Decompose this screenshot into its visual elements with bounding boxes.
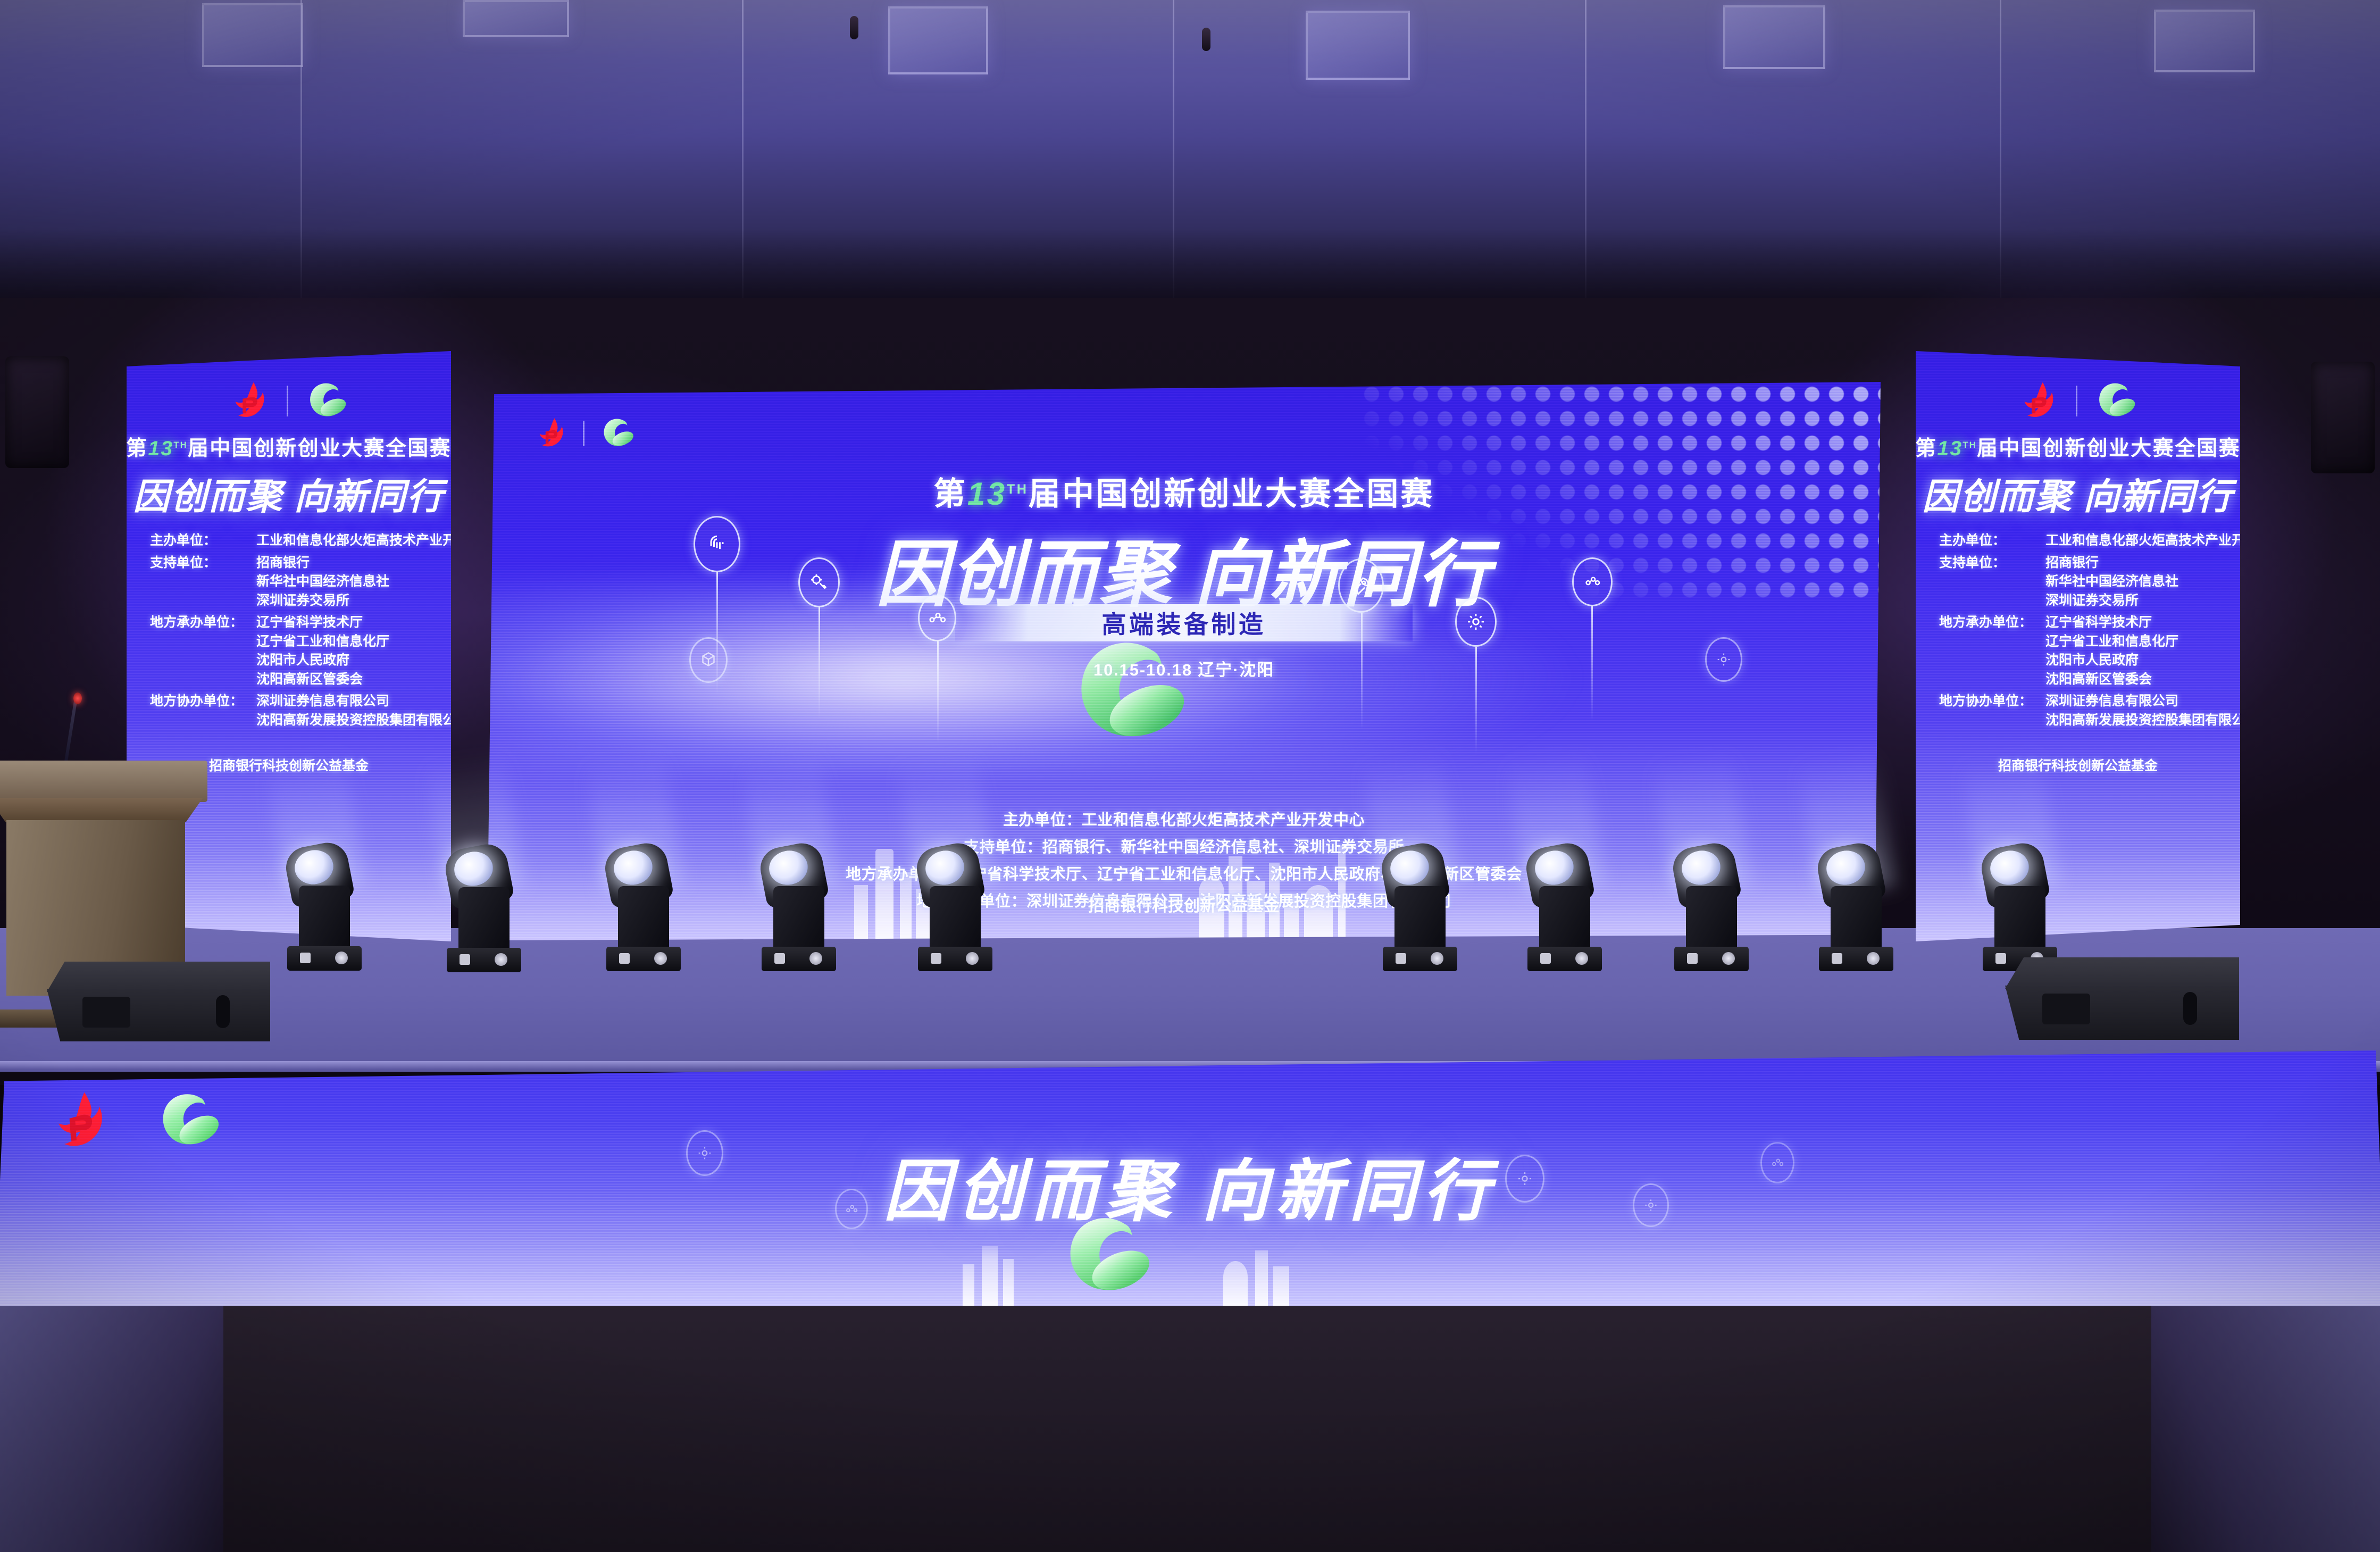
org-value: 辽宁省科学技术厅 <box>256 613 389 632</box>
org-key: 主办单位： <box>1939 531 2045 550</box>
front-led-strip: 因创而聚 向新同行 <box>0 1050 2380 1306</box>
moving-head-light <box>1674 853 1749 971</box>
molecule-icon <box>1760 1142 1794 1183</box>
torch-logo <box>533 416 570 450</box>
org-value: 工业和信息化部火炬高技术产业开发中心 <box>256 531 451 550</box>
org-value: 招商银行 <box>256 554 389 573</box>
house-floor <box>0 1287 2380 1552</box>
org-key: 地方协办单位： <box>150 692 256 730</box>
panel-fund-line: 招商银行科技创新公益基金 <box>1998 755 2158 774</box>
edition-suffix: 届中国创新创业大赛全国赛 <box>1977 437 2240 460</box>
torch-logo <box>2016 380 2062 422</box>
stage-monitor-speaker <box>47 962 270 1041</box>
subtitle-band: 高端装备制造 <box>955 604 1413 641</box>
house-carpet-right <box>2151 1284 2380 1552</box>
edition-prefix: 第 <box>933 476 967 512</box>
ceiling-light-panel <box>1723 5 1825 69</box>
right-led-panel: 第13TH届中国创新创业大赛全国赛 因创而聚 向新同行 主办单位： 工业和信息化… <box>1916 351 2240 941</box>
org-value: 沈阳高新发展投资控股集团有限公司 <box>2045 711 2240 730</box>
moving-head-light <box>287 854 362 971</box>
ceiling-light-panel <box>463 0 569 37</box>
org-key: 地方承办单位： <box>1939 613 2045 689</box>
front-strip-slogan: 因创而聚 向新同行 <box>0 1137 2380 1234</box>
big-c-emblem <box>1059 632 1197 754</box>
footer-line: 支持单位：招商银行、新华社中国经济信息社、深圳证券交易所 <box>964 835 1404 857</box>
gear-icon <box>1455 597 1497 647</box>
panel-fund-line: 招商银行科技创新公益基金 <box>209 755 369 774</box>
c-mark-logo <box>2091 380 2140 422</box>
subtitle-text: 高端装备制造 <box>1101 605 1266 640</box>
c-mark-logo <box>302 380 351 422</box>
edition-tm: TH <box>1007 482 1029 497</box>
moving-head-light <box>1983 855 2057 971</box>
org-value: 辽宁省工业和信息化厅 <box>256 632 389 652</box>
edition-tm: TH <box>173 440 188 450</box>
org-value: 深圳证券交易所 <box>256 591 389 611</box>
ceiling <box>0 0 2380 340</box>
moving-head-light <box>1819 854 1893 971</box>
wall-mounted-speaker <box>2311 362 2375 473</box>
ceiling-light-panel <box>202 3 303 67</box>
main-led-screen: 第13TH届中国创新创业大赛全国赛 因创而聚 向新同行 <box>487 382 1881 940</box>
moving-head-light <box>762 851 836 971</box>
edition-prefix: 第 <box>127 437 148 460</box>
org-value: 沈阳高新发展投资控股集团有限公司 <box>256 711 451 730</box>
org-value: 辽宁省科学技术厅 <box>2045 613 2178 632</box>
org-value: 招商银行 <box>2045 554 2178 573</box>
footer-line: 主办单位：工业和信息化部火炬高技术产业开发中心 <box>1003 807 1365 830</box>
ceiling-light-panel <box>2154 10 2255 72</box>
org-value: 深圳证券交易所 <box>2045 591 2178 611</box>
org-value: 沈阳市人民政府 <box>256 651 389 670</box>
org-value: 新华社中国经济信息社 <box>2045 572 2178 591</box>
microphone-head-icon <box>73 692 82 704</box>
molecule-icon <box>918 595 956 641</box>
edition-number: 13 <box>967 476 1007 512</box>
wall-mounted-speaker <box>5 356 69 468</box>
edition-prefix: 第 <box>1916 437 1937 460</box>
org-key: 支持单位： <box>150 554 256 611</box>
fund-line: 招商银行科技创新公益基金 <box>487 892 1881 916</box>
stage-photo-scene: 第13TH届中国创新创业大赛全国赛 因创而聚 向新同行 主办单位： 工业和信息化… <box>0 0 2380 1552</box>
org-value: 辽宁省工业和信息化厅 <box>2045 632 2178 652</box>
org-value: 工业和信息化部火炬高技术产业开发中心 <box>2045 531 2240 550</box>
moving-head-light <box>1383 851 1457 971</box>
moving-head-light <box>918 851 992 971</box>
edition-suffix: 届中国创新创业大赛全国赛 <box>1029 476 1434 512</box>
gear-icon <box>686 1130 723 1176</box>
edition-tm: TH <box>1963 440 1977 450</box>
c-mark-logo <box>597 416 638 451</box>
gear-icon <box>1633 1183 1669 1227</box>
edition-number: 13 <box>1937 437 1963 460</box>
org-value: 新华社中国经济信息社 <box>256 572 389 591</box>
org-value: 深圳证券信息有限公司 <box>2045 692 2240 711</box>
house-carpet-left <box>0 1284 223 1552</box>
ceiling-light-panel <box>1306 11 1410 80</box>
org-value: 沈阳高新区管委会 <box>256 670 389 689</box>
org-value: 沈阳高新区管委会 <box>2045 670 2178 689</box>
fingerprint-icon <box>694 516 740 572</box>
org-value: 沈阳市人民政府 <box>2045 651 2178 670</box>
org-value: 深圳证券信息有限公司 <box>256 692 451 711</box>
stage-monitor-speaker <box>2005 957 2239 1040</box>
city-skyline-decor <box>0 1221 2380 1306</box>
moving-head-light <box>447 856 521 972</box>
gear-wrench-icon <box>798 557 840 607</box>
panel-slogan: 因创而聚 向新同行 <box>1922 467 2233 520</box>
moving-head-light <box>606 852 681 971</box>
molecule-icon <box>835 1189 868 1229</box>
ceiling-sprinkler <box>850 16 858 39</box>
gear-icon <box>1505 1155 1544 1203</box>
edition-number: 13 <box>148 437 173 460</box>
date-location: 10.15-10.18 辽宁·沈阳 <box>487 656 1881 680</box>
big-c-emblem <box>1053 1210 1159 1304</box>
org-key: 地方承办单位： <box>150 613 256 689</box>
chip-icon <box>1572 557 1613 606</box>
ceiling-sprinkler <box>1202 28 1210 51</box>
ceiling-light-panel <box>888 6 988 74</box>
org-key: 地方协办单位： <box>1939 692 2045 730</box>
org-key: 主办单位： <box>150 531 256 550</box>
panel-slogan: 因创而聚 向新同行 <box>133 467 444 520</box>
org-key: 支持单位： <box>1939 554 2045 611</box>
edition-suffix: 届中国创新创业大赛全国赛 <box>188 437 451 460</box>
torch-logo <box>227 380 273 422</box>
moving-head-light <box>1527 852 1602 971</box>
